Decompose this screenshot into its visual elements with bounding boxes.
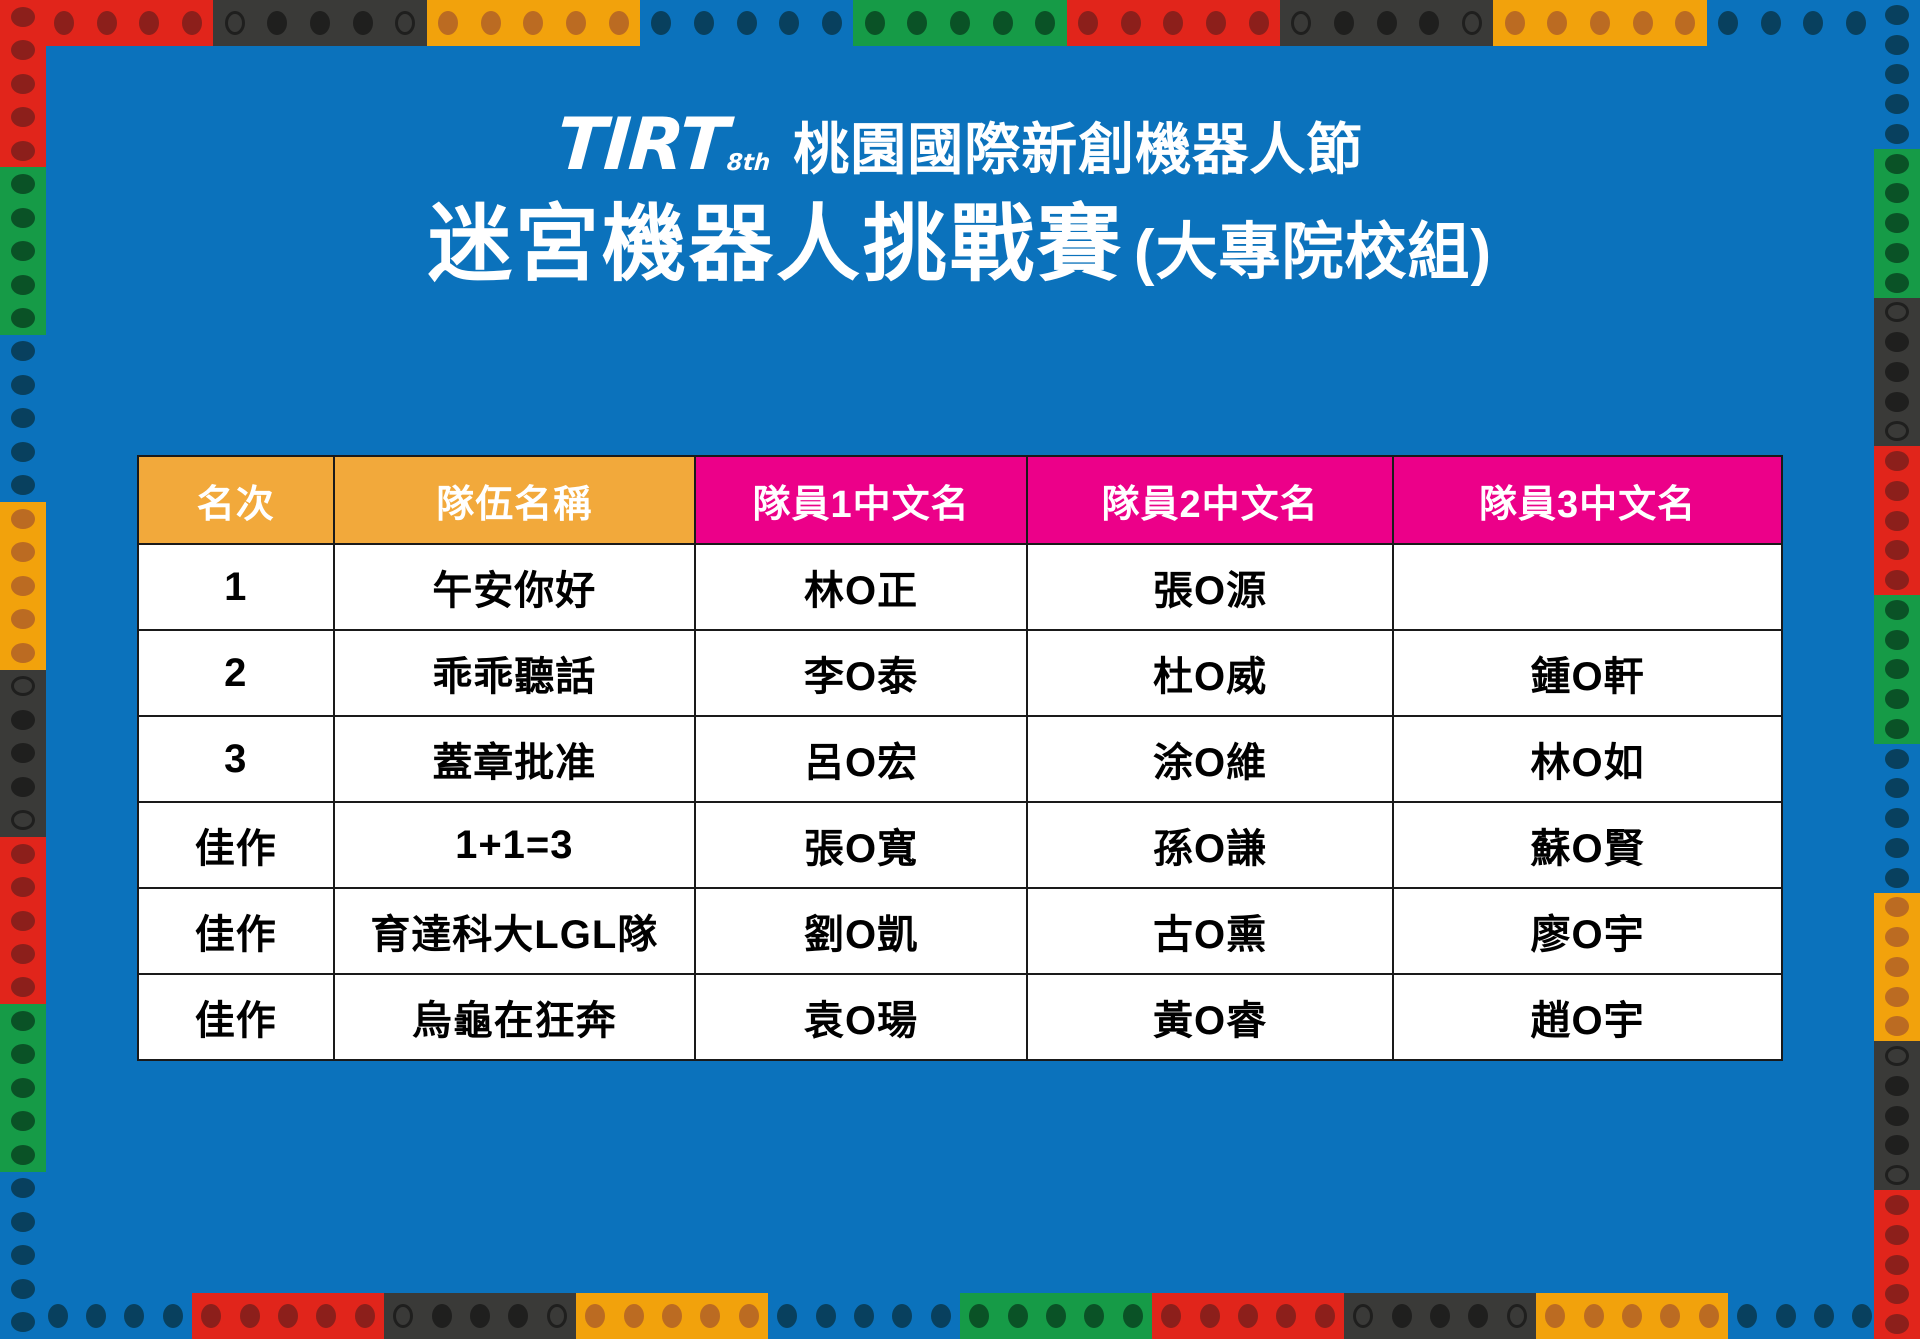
lego-stud [1885,1195,1909,1215]
table-row: 1午安你好林O正張O源 [138,544,1782,630]
lego-stud [86,1304,106,1328]
table-row: 佳作育達科大LGL隊劉O凱古O熏廖O宇 [138,888,1782,974]
lego-brick-dark [384,1293,576,1339]
lego-stud [11,475,35,495]
lego-stud [11,911,35,931]
lego-stud [624,1304,644,1328]
results-table: 名次 隊伍名稱 隊員1中文名 隊員2中文名 隊員3中文名 1午安你好林O正張O源… [137,455,1783,1061]
lego-brick-dark [1874,298,1920,447]
lego-stud [11,442,35,462]
team-name-cell: 乖乖聽話 [334,630,696,716]
lego-stud [11,1279,35,1299]
lego-brick-orange [0,502,46,669]
lego-stud [1392,1304,1412,1328]
lego-stud [1885,1165,1909,1185]
table-header-row: 名次 隊伍名稱 隊員1中文名 隊員2中文名 隊員3中文名 [138,456,1782,544]
lego-stud [1545,1304,1565,1328]
lego-brick-red [1874,1190,1920,1339]
lego-stud [11,408,35,428]
team-name-cell: 蓋章批准 [334,716,696,802]
lego-stud [1238,1304,1258,1328]
team-name-cell: 午安你好 [334,544,696,630]
member-2-cell: 杜O威 [1027,630,1393,716]
team-name-cell: 烏龜在狂奔 [334,974,696,1060]
member-3-cell: 蘇O賢 [1393,802,1782,888]
lego-stud [11,11,31,35]
lego-stud [11,1044,35,1064]
lego-stud [1885,1284,1909,1304]
lego-border-bottom [0,1293,1920,1339]
table-row: 3蓋章批准呂O宏涂O維林O如 [138,716,1782,802]
member-3-cell: 林O如 [1393,716,1782,802]
lego-stud [11,844,35,864]
lego-stud [11,810,35,830]
lego-stud [1776,1304,1796,1328]
lego-stud [1885,154,1909,174]
lego-brick-red [192,1293,384,1339]
lego-brick-blue [1874,744,1920,893]
lego-stud [163,1304,183,1328]
lego-stud [1885,927,1909,947]
column-header-member-1: 隊員1中文名 [695,456,1027,544]
lego-brick-blue [1874,0,1920,149]
member-2-cell: 孫O謙 [1027,802,1393,888]
lego-stud [1885,243,1909,263]
member-2-cell: 張O源 [1027,544,1393,630]
lego-stud [1885,183,1909,203]
lego-stud [355,1304,375,1328]
lego-stud [1885,838,1909,858]
lego-stud [470,1304,490,1328]
lego-stud [508,1304,528,1328]
lego-stud [1885,451,1909,471]
rank-cell: 佳作 [138,802,334,888]
lego-stud [1008,1304,1028,1328]
lego-stud [1699,1304,1719,1328]
page-subtitle: (大專院校組) [1134,201,1492,291]
lego-stud [11,341,35,361]
lego-stud [1885,481,1909,501]
lego-stud [1430,1304,1450,1328]
lego-stud [1885,1225,1909,1245]
lego-stud [1885,1314,1909,1334]
tirt-logo-suffix: 8th [726,152,771,174]
lego-stud [1315,1304,1335,1328]
lego-brick-blue [1728,1293,1920,1339]
lego-stud [11,241,35,261]
member-2-cell: 古O熏 [1027,888,1393,974]
lego-stud [1885,749,1909,769]
lego-brick-dark [1874,1041,1920,1190]
table-row: 2乖乖聽話李O泰杜O威鍾O軒 [138,630,1782,716]
rank-cell: 佳作 [138,974,334,1060]
lego-stud [1889,11,1909,35]
member-3-cell: 鍾O軒 [1393,630,1782,716]
lego-stud [1885,1106,1909,1126]
member-1-cell: 呂O宏 [695,716,1027,802]
member-3-cell: 廖O宇 [1393,888,1782,974]
lego-brick-green [960,1293,1152,1339]
lego-stud [11,1011,35,1031]
lego-border-right [1874,0,1920,1339]
lego-stud [1885,64,1909,84]
tirt-logo-text: TIRT [554,110,728,178]
lego-brick-blue [0,1293,192,1339]
lego-stud [1885,1046,1909,1066]
lego-stud [1885,659,1909,679]
lego-stud [1584,1304,1604,1328]
table-row: 佳作烏龜在狂奔袁O瑒黃O睿趙O宇 [138,974,1782,1060]
lego-stud [1353,1304,1373,1328]
page-header: TIRT8th 桃園國際新創機器人節 迷宮機器人挑戰賽 (大專院校組) [46,0,1874,291]
lego-stud [1885,362,1909,382]
lego-stud [11,576,35,596]
lego-stud [11,1178,35,1198]
lego-stud [1852,1304,1872,1328]
lego-stud [969,1304,989,1328]
lego-stud [11,609,35,629]
lego-stud [700,1304,720,1328]
lego-stud [1885,421,1909,441]
lego-stud [1885,35,1909,55]
lego-stud [11,7,35,27]
title-row: 迷宮機器人挑戰賽 (大專院校組) [46,200,1874,291]
lego-stud [1814,1304,1834,1328]
lego-stud [1885,570,1909,590]
lego-brick-green [0,1004,46,1171]
lego-stud [1885,213,1909,233]
column-header-team: 隊伍名稱 [334,456,696,544]
lego-brick-orange [1874,893,1920,1042]
lego-stud [1885,5,1909,25]
lego-stud [11,676,35,696]
member-3-cell: 趙O宇 [1393,974,1782,1060]
lego-stud [662,1304,682,1328]
lego-stud [48,1304,68,1328]
rank-cell: 3 [138,716,334,802]
lego-stud [201,1304,221,1328]
lego-stud [1737,1304,1757,1328]
lego-stud [316,1304,336,1328]
lego-stud [739,1304,759,1328]
member-2-cell: 涂O維 [1027,716,1393,802]
lego-brick-dark [0,670,46,837]
lego-brick-green [1874,595,1920,744]
lego-brick-red [0,837,46,1004]
lego-stud [1885,124,1909,144]
lego-stud [1507,1304,1527,1328]
lego-stud [278,1304,298,1328]
lego-stud [892,1304,912,1328]
results-table-body: 1午安你好林O正張O源2乖乖聽話李O泰杜O威鍾O軒3蓋章批准呂O宏涂O維林O如佳… [138,544,1782,1060]
lego-stud [1885,1255,1909,1275]
lego-stud [11,275,35,295]
lego-stud [11,107,35,127]
tirt-logo: TIRT8th [554,110,773,178]
page-title: 迷宮機器人挑戰賽 [428,200,1124,288]
lego-brick-blue [768,1293,960,1339]
lego-stud [547,1304,567,1328]
rank-cell: 佳作 [138,888,334,974]
team-name-cell: 1+1=3 [334,802,696,888]
lego-stud [1885,808,1909,828]
lego-stud [1885,719,1909,739]
lego-stud [124,1304,144,1328]
lego-stud [11,1078,35,1098]
lego-stud [11,944,35,964]
lego-stud [1885,1016,1909,1036]
lego-stud [11,1145,35,1165]
empty-cell [1393,544,1782,630]
lego-stud [1200,1304,1220,1328]
lego-stud [1885,273,1909,293]
results-table-wrapper: 名次 隊伍名稱 隊員1中文名 隊員2中文名 隊員3中文名 1午安你好林O正張O源… [137,455,1783,1061]
lego-stud [1885,957,1909,977]
lego-stud [11,208,35,228]
column-header-member-3: 隊員3中文名 [1393,456,1782,544]
lego-stud [11,777,35,797]
lego-stud [1660,1304,1680,1328]
lego-brick-green [1874,149,1920,298]
event-name: 桃園國際新創機器人節 [793,122,1363,178]
member-1-cell: 李O泰 [695,630,1027,716]
lego-stud [11,877,35,897]
lego-stud [11,1245,35,1265]
lego-stud [1885,540,1909,560]
lego-stud [1161,1304,1181,1328]
lego-stud [585,1304,605,1328]
lego-stud [11,743,35,763]
lego-stud [1885,630,1909,650]
lego-stud [11,1212,35,1232]
lego-stud [11,308,35,328]
lego-brick-red [1874,446,1920,595]
lego-stud [1885,897,1909,917]
lego-stud [11,1312,35,1332]
lego-stud [1885,1135,1909,1155]
lego-stud [432,1304,452,1328]
lego-brick-red [1152,1293,1344,1339]
lego-stud [1891,1304,1911,1328]
member-1-cell: 劉O凱 [695,888,1027,974]
lego-stud [240,1304,260,1328]
lego-stud [1046,1304,1066,1328]
lego-brick-blue [0,1172,46,1339]
lego-stud [11,174,35,194]
column-header-member-2: 隊員2中文名 [1027,456,1393,544]
lego-stud [1276,1304,1296,1328]
lego-stud [1622,1304,1642,1328]
lego-border-left [0,0,46,1339]
lego-stud [11,74,35,94]
lego-stud [11,542,35,562]
table-row: 佳作1+1=3張O寬孫O謙蘇O賢 [138,802,1782,888]
lego-stud [11,643,35,663]
lego-stud [11,710,35,730]
lego-brick-dark [1344,1293,1536,1339]
lego-stud [777,1304,797,1328]
lego-brick-orange [1536,1293,1728,1339]
lego-stud [1885,302,1909,322]
lego-stud [1885,511,1909,531]
lego-stud [11,141,35,161]
lego-stud [11,977,35,997]
lego-brick-orange [576,1293,768,1339]
lego-stud [1885,332,1909,352]
lego-stud [1885,94,1909,114]
lego-stud [9,1304,29,1328]
lego-stud [1123,1304,1143,1328]
lego-brick-red [0,0,46,167]
lego-brick-blue [0,335,46,502]
lego-stud [11,40,35,60]
lego-stud [1885,778,1909,798]
lego-stud [1885,1076,1909,1096]
lego-stud [1468,1304,1488,1328]
logo-row: TIRT8th 桃園國際新創機器人節 [46,100,1874,178]
rank-cell: 1 [138,544,334,630]
lego-stud [393,1304,413,1328]
member-1-cell: 張O寬 [695,802,1027,888]
lego-stud [11,1111,35,1131]
lego-stud [11,509,35,529]
team-name-cell: 育達科大LGL隊 [334,888,696,974]
lego-stud [931,1304,951,1328]
rank-cell: 2 [138,630,334,716]
member-1-cell: 袁O瑒 [695,974,1027,1060]
lego-stud [1084,1304,1104,1328]
lego-stud [1885,392,1909,412]
member-2-cell: 黃O睿 [1027,974,1393,1060]
lego-stud [11,375,35,395]
column-header-rank: 名次 [138,456,334,544]
lego-stud [854,1304,874,1328]
lego-stud [1885,868,1909,888]
lego-stud [816,1304,836,1328]
lego-brick-green [0,167,46,334]
lego-stud [1885,987,1909,1007]
member-1-cell: 林O正 [695,544,1027,630]
lego-stud [1885,689,1909,709]
lego-stud [1885,600,1909,620]
